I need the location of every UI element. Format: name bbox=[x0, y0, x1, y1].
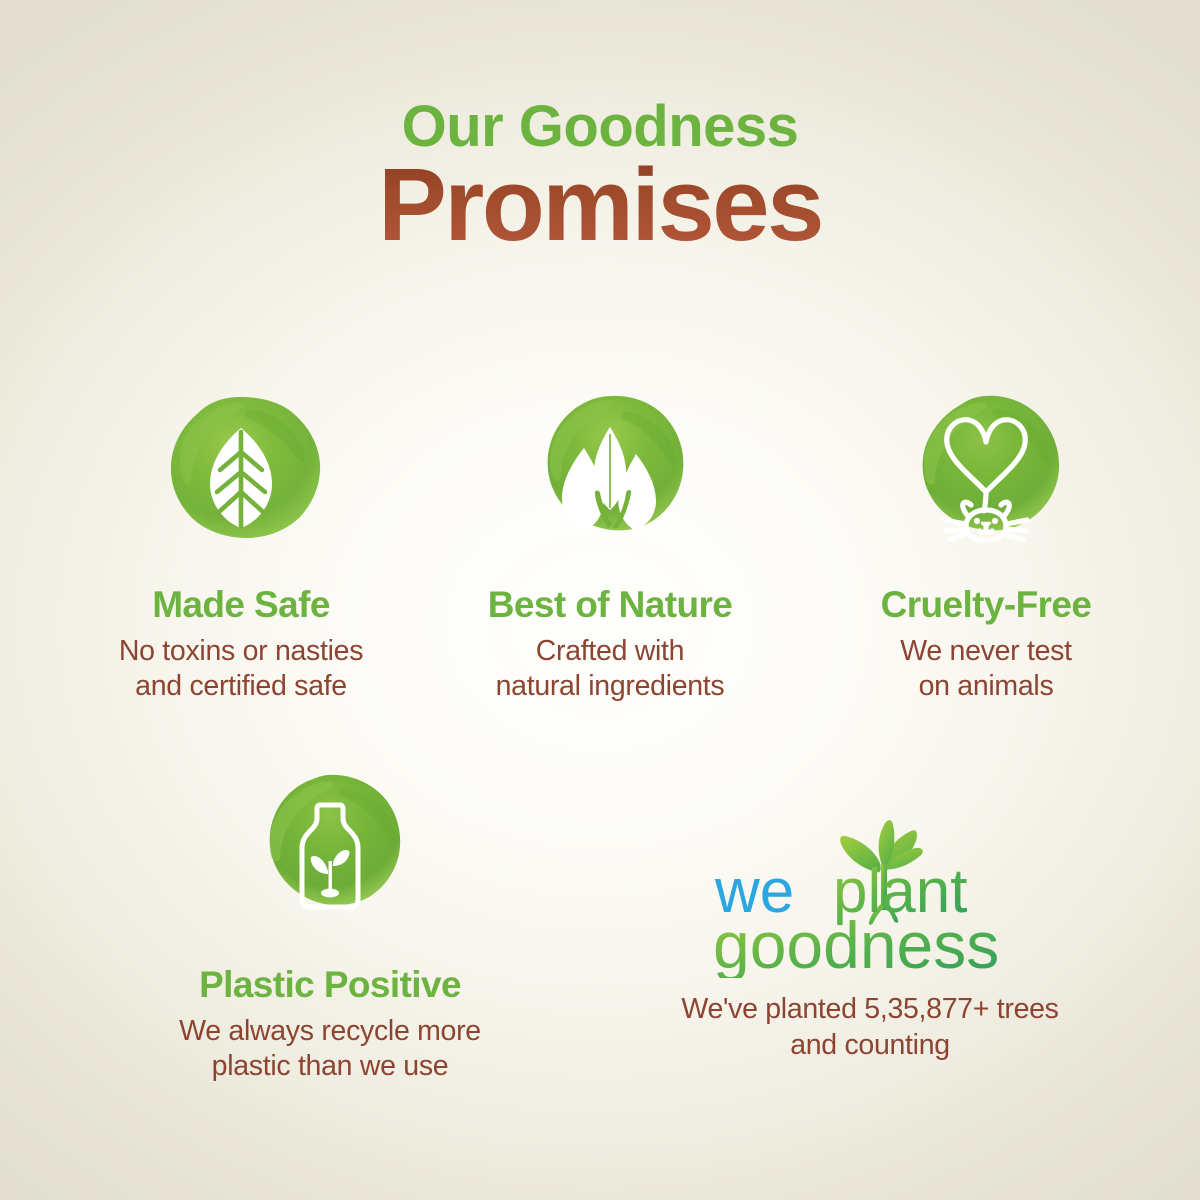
trees-desc-line-2: and counting bbox=[620, 1028, 1120, 1064]
promise-card-plastic-positive: Plastic Positive We always recycle more … bbox=[130, 772, 530, 1085]
promise-desc-line-2: plastic than we use bbox=[130, 1049, 530, 1085]
promise-desc-line-1: We never test bbox=[786, 634, 1186, 670]
promise-title: Cruelty-Free bbox=[786, 584, 1186, 627]
promise-title: Plastic Positive bbox=[130, 964, 530, 1007]
trees-planted-description: We've planted 5,35,877+ trees and counti… bbox=[620, 992, 1120, 1064]
promise-description: Crafted with natural ingredients bbox=[410, 634, 810, 706]
page-title: Our Goodness Promises bbox=[0, 98, 1200, 257]
promise-card-best-of-nature: Best of Nature Crafted with natural ingr… bbox=[410, 392, 810, 705]
promise-badge-made-safe bbox=[155, 392, 327, 564]
promise-badge-plastic-positive bbox=[246, 772, 414, 940]
three-leaves-icon bbox=[558, 424, 662, 532]
we-plant-goodness-logo: we plant goodness bbox=[705, 800, 1035, 978]
promise-desc-line-1: We always recycle more bbox=[130, 1014, 530, 1050]
promise-description: We never test on animals bbox=[786, 634, 1186, 706]
infographic-canvas: Our Goodness Promises bbox=[0, 0, 1200, 1200]
promise-desc-line-2: natural ingredients bbox=[410, 669, 810, 705]
we-plant-goodness-block: we plant goodness We've planted 5,35,877… bbox=[620, 800, 1120, 1064]
promise-title: Made Safe bbox=[41, 584, 441, 627]
headline-line-2: Promises bbox=[378, 152, 822, 257]
promise-description: No toxins or nasties and certified safe bbox=[41, 634, 441, 706]
logo-word-goodness: goodness bbox=[713, 908, 999, 978]
promise-desc-line-1: Crafted with bbox=[410, 634, 810, 670]
trees-desc-line-1: We've planted 5,35,877+ trees bbox=[620, 992, 1120, 1028]
promise-badge-cruelty-free bbox=[900, 392, 1072, 564]
promise-desc-line-2: and certified safe bbox=[41, 669, 441, 705]
promise-card-cruelty-free: Cruelty-Free We never test on animals bbox=[786, 392, 1186, 705]
promise-badge-best-of-nature bbox=[524, 392, 696, 564]
promise-desc-line-2: on animals bbox=[786, 669, 1186, 705]
promise-desc-line-1: No toxins or nasties bbox=[41, 634, 441, 670]
promise-card-made-safe: Made Safe No toxins or nasties and certi… bbox=[41, 392, 441, 705]
bottle-sprout-icon bbox=[291, 801, 369, 911]
bunny-heart-icon bbox=[927, 414, 1045, 542]
promise-title: Best of Nature bbox=[410, 584, 810, 627]
leaf-icon bbox=[198, 426, 284, 530]
promise-description: We always recycle more plastic than we u… bbox=[130, 1014, 530, 1086]
